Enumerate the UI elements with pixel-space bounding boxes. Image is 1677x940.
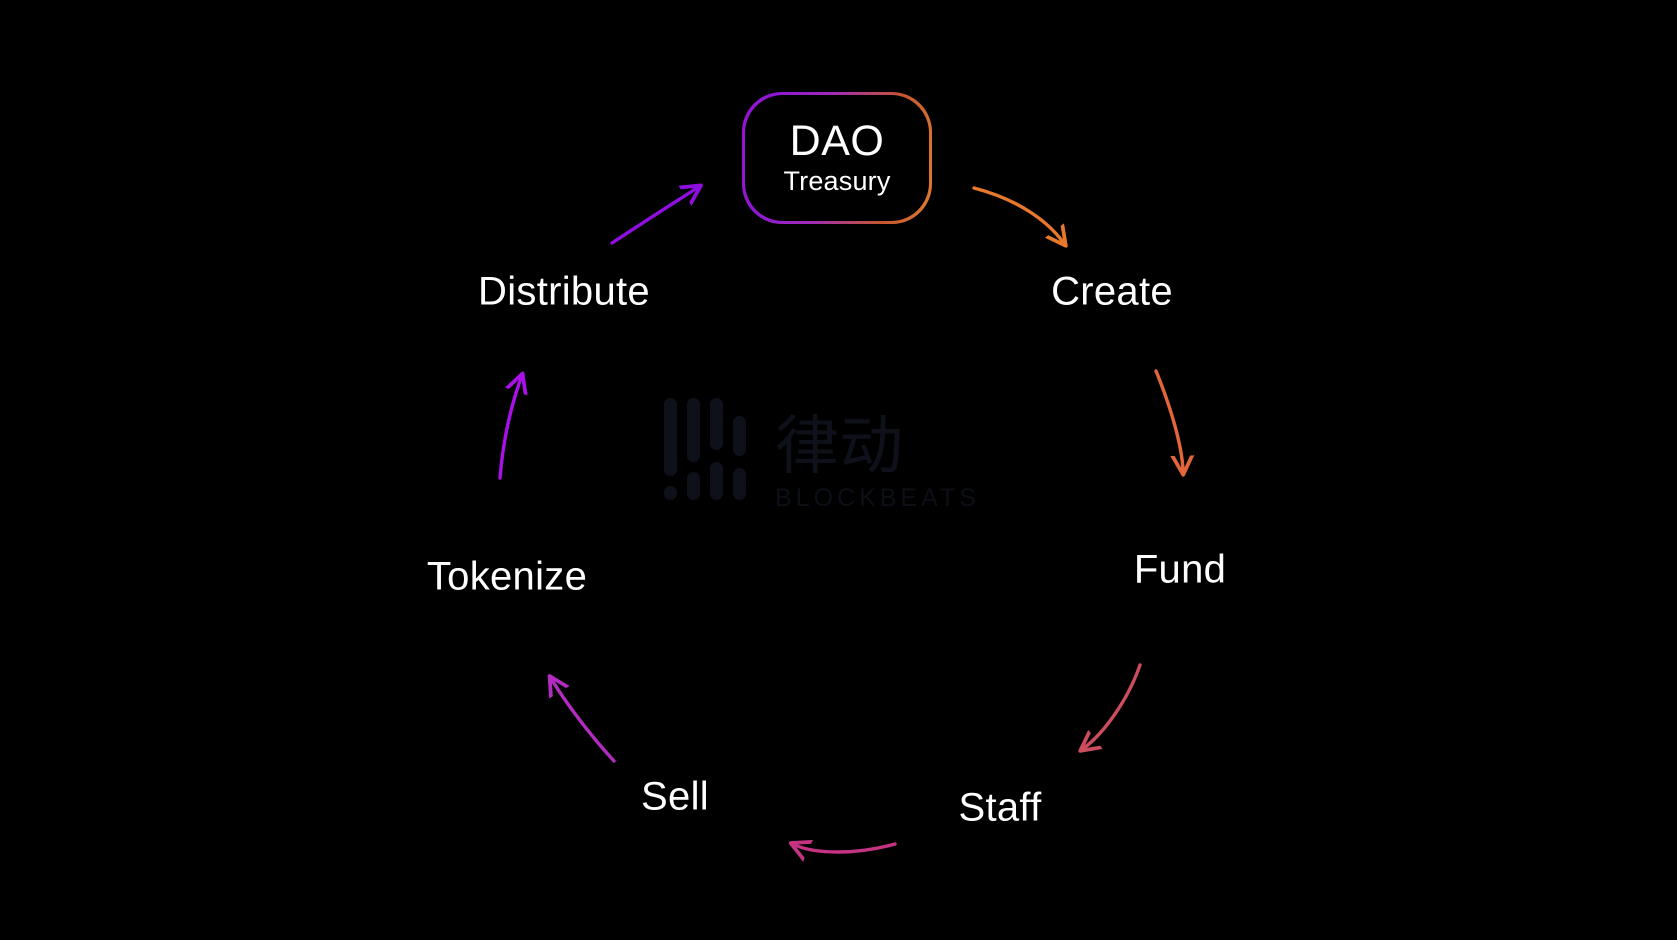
arrow-staff-to-sell (795, 844, 895, 852)
stage-label-tokenize[interactable]: Tokenize (427, 555, 587, 600)
arrow-fund-to-staff (1084, 665, 1140, 748)
stage-label-sell[interactable]: Sell (641, 775, 709, 820)
stage-label-staff[interactable]: Staff (958, 786, 1041, 831)
arrow-create-to-fund (1156, 371, 1183, 470)
stage-label-create[interactable]: Create (1051, 270, 1173, 315)
arrow-dao-to-create (974, 188, 1063, 242)
watermark-cn-text: 律动 (775, 410, 903, 484)
stage-label-fund[interactable]: Fund (1134, 548, 1226, 593)
stage-label-distribute[interactable]: Distribute (478, 270, 650, 315)
dao-subtitle: Treasury (783, 166, 890, 197)
arrow-distribute-to-dao (612, 188, 697, 243)
blockbeats-watermark: 律动 BLOCKBEATS (660, 390, 1020, 520)
arrow-sell-to-tokenize (552, 680, 614, 761)
watermark-en-text: BLOCKBEATS (775, 484, 980, 512)
dao-treasury-node-inner: DAO Treasury (745, 95, 930, 222)
diagram-canvas: 律动 BLOCKBEATS (0, 0, 1677, 940)
watermark-bars (664, 398, 746, 500)
dao-treasury-node[interactable]: DAO Treasury (742, 92, 932, 224)
arrow-tokenize-to-distribute (500, 378, 521, 478)
dao-title: DAO (790, 119, 885, 164)
